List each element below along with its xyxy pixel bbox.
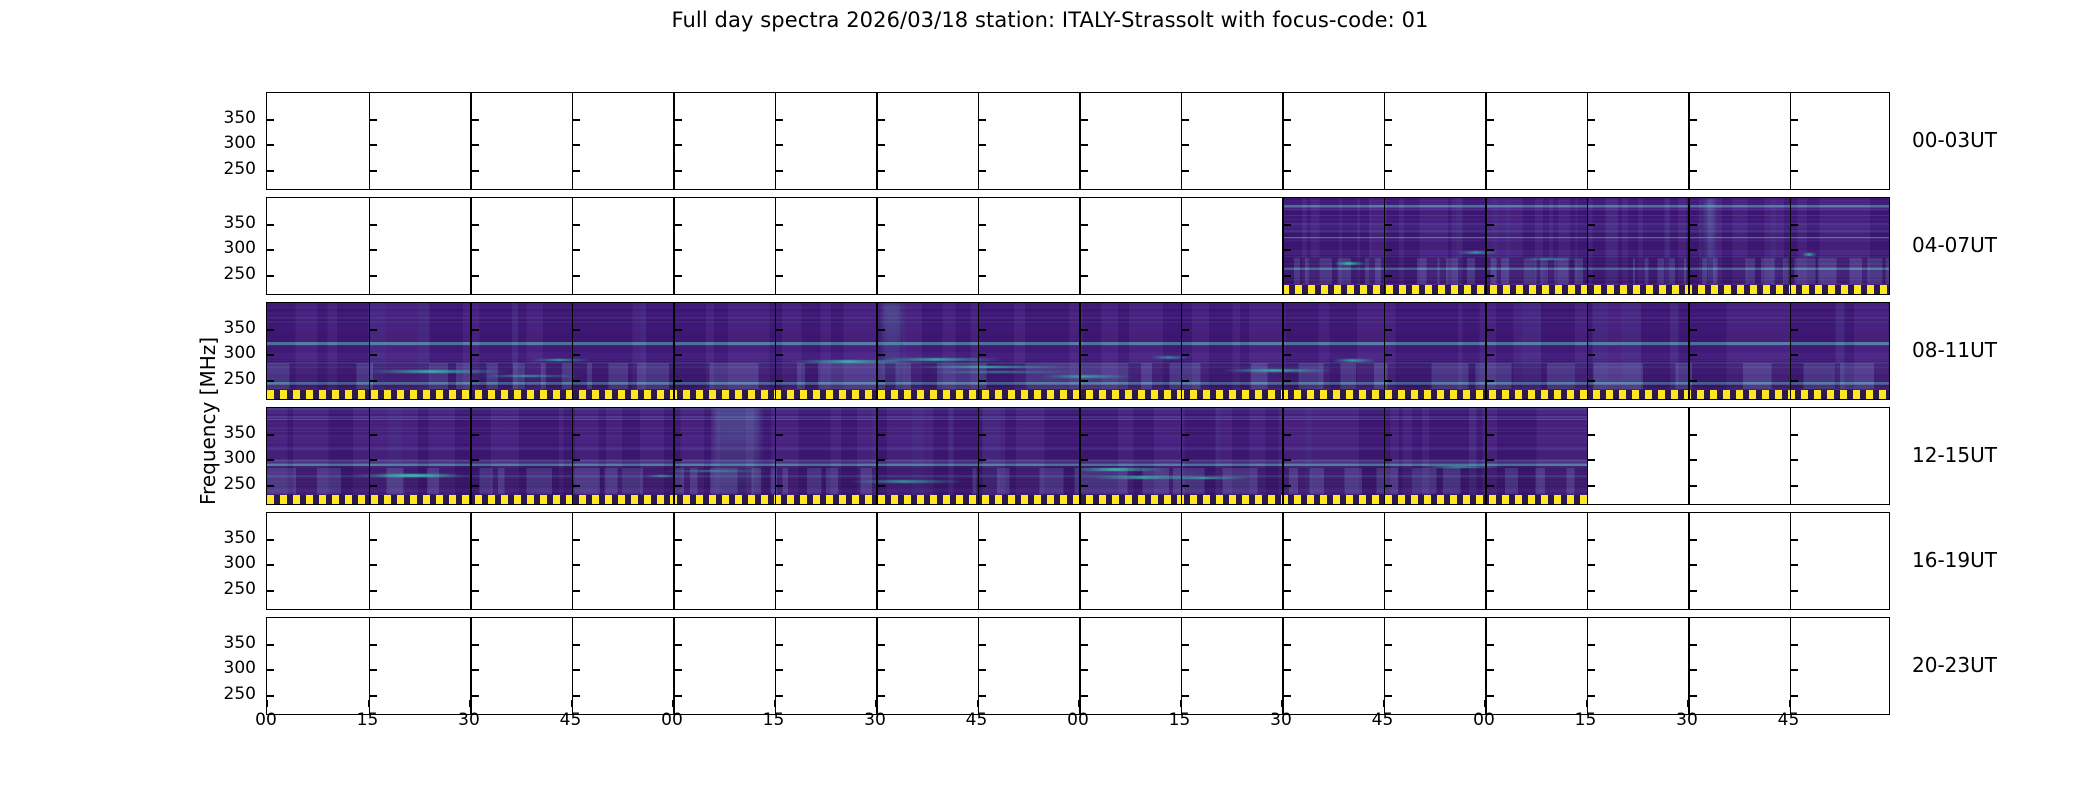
y-tick-mark <box>675 329 682 331</box>
y-tick-mark <box>878 119 885 121</box>
y-tick-mark <box>267 144 274 146</box>
y-tick-mark <box>573 695 580 697</box>
y-tick-mark <box>878 249 885 251</box>
y-tick-mark <box>472 539 479 541</box>
y-tick-mark <box>878 669 885 671</box>
y-tick-mark <box>675 590 682 592</box>
y-tick-mark <box>675 434 682 436</box>
y-tick-mark <box>1791 224 1798 226</box>
x-tick-label: 15 <box>754 710 794 730</box>
segment-divider <box>1688 93 1690 189</box>
y-tick-mark <box>1487 590 1494 592</box>
y-tick-mark <box>1690 224 1697 226</box>
y-tick-mark <box>675 380 682 382</box>
data-region <box>267 408 1587 504</box>
y-tick-mark <box>1284 329 1291 331</box>
x-tick-label: 15 <box>1566 710 1606 730</box>
y-tick-mark <box>979 564 986 566</box>
segment-divider <box>1485 198 1487 294</box>
y-tick-mark <box>1487 539 1494 541</box>
x-tick-mark <box>1687 700 1689 707</box>
y-tick-mark <box>370 590 377 592</box>
horizontal-band <box>267 462 1587 463</box>
segment-divider <box>1282 303 1284 399</box>
y-tick-mark <box>1182 669 1189 671</box>
x-tick-label: 00 <box>652 710 692 730</box>
y-tick-mark <box>573 354 580 356</box>
y-tick-mark <box>1487 354 1494 356</box>
spectrogram-panel[interactable] <box>266 302 1890 400</box>
y-tick-mark <box>1588 669 1595 671</box>
row-time-label: 00-03UT <box>1912 128 1997 152</box>
segment-divider <box>1485 93 1487 189</box>
y-tick-mark <box>1487 249 1494 251</box>
y-tick-mark <box>1385 539 1392 541</box>
y-tick-mark <box>1588 329 1595 331</box>
segment-divider <box>1384 513 1386 609</box>
y-tick-mark <box>675 644 682 646</box>
y-tick-mark <box>878 144 885 146</box>
y-tick-mark <box>1081 539 1088 541</box>
x-tick-mark <box>977 700 979 707</box>
x-tick-label: 45 <box>957 710 997 730</box>
segment-divider <box>673 93 675 189</box>
y-tick-mark <box>1690 485 1697 487</box>
segment-divider <box>1587 198 1589 294</box>
y-tick-mark <box>1588 434 1595 436</box>
segment-divider <box>1282 513 1284 609</box>
segment-divider <box>1079 513 1081 609</box>
spectrogram-figure: Full day spectra 2026/03/18 station: ITA… <box>0 0 2100 800</box>
y-tick-mark <box>1791 564 1798 566</box>
y-tick-mark <box>1284 249 1291 251</box>
y-tick-mark <box>370 170 377 172</box>
y-tick-mark <box>1791 590 1798 592</box>
y-tick-mark <box>979 485 986 487</box>
segment-divider <box>1587 303 1589 399</box>
x-tick-label: 30 <box>1667 710 1707 730</box>
y-tick-mark <box>573 329 580 331</box>
y-tick-mark <box>1081 329 1088 331</box>
y-tick-mark <box>1690 434 1697 436</box>
y-tick-mark <box>1081 564 1088 566</box>
y-tick-mark <box>675 249 682 251</box>
y-tick-mark <box>1588 459 1595 461</box>
segment-divider <box>572 303 574 399</box>
segment-divider <box>1790 513 1792 609</box>
x-tick-mark <box>1586 700 1588 707</box>
vertical-plume <box>715 408 760 494</box>
y-tick-mark <box>267 539 274 541</box>
segment-divider <box>1079 408 1081 504</box>
y-tick-label: 350 <box>202 108 256 128</box>
y-tick-mark <box>1690 170 1697 172</box>
segment-divider <box>470 198 472 294</box>
y-tick-mark <box>1081 644 1088 646</box>
y-tick-mark <box>878 539 885 541</box>
y-tick-mark <box>979 275 986 277</box>
y-tick-mark <box>1791 354 1798 356</box>
y-tick-mark <box>370 275 377 277</box>
y-tick-mark <box>370 695 377 697</box>
y-tick-mark <box>1690 354 1697 356</box>
y-tick-mark <box>979 144 986 146</box>
y-tick-mark <box>370 485 377 487</box>
y-tick-mark <box>776 249 783 251</box>
y-tick-mark <box>1588 354 1595 356</box>
spectrogram-panel[interactable] <box>266 197 1890 295</box>
y-tick-mark <box>1487 380 1494 382</box>
segment-divider <box>775 513 777 609</box>
y-tick-mark <box>472 434 479 436</box>
y-tick-mark <box>370 119 377 121</box>
segment-divider <box>673 303 675 399</box>
y-tick-mark <box>1081 224 1088 226</box>
y-tick-mark <box>1487 329 1494 331</box>
y-tick-mark <box>1791 434 1798 436</box>
y-tick-mark <box>1081 144 1088 146</box>
x-tick-label: 45 <box>1769 710 1809 730</box>
y-tick-mark <box>1284 459 1291 461</box>
emission-streak <box>1334 262 1366 265</box>
segment-divider <box>1384 303 1386 399</box>
y-tick-mark <box>1284 170 1291 172</box>
y-tick-mark <box>1385 564 1392 566</box>
y-tick-mark <box>1588 275 1595 277</box>
row-time-label: 16-19UT <box>1912 548 1997 572</box>
y-tick-mark <box>1385 485 1392 487</box>
y-tick-label: 300 <box>202 133 256 153</box>
y-tick-label: 250 <box>202 369 256 389</box>
spectrogram-panel[interactable] <box>266 407 1890 505</box>
y-tick-mark <box>1081 590 1088 592</box>
segment-divider <box>1282 93 1284 189</box>
segment-divider <box>1384 93 1386 189</box>
y-tick-mark <box>1588 644 1595 646</box>
y-tick-mark <box>472 329 479 331</box>
emission-streak <box>1150 356 1191 359</box>
y-tick-mark <box>573 644 580 646</box>
segment-divider <box>1181 93 1183 189</box>
x-tick-mark <box>266 700 268 707</box>
segment-divider <box>876 408 878 504</box>
y-tick-mark <box>472 354 479 356</box>
segment-divider <box>673 408 675 504</box>
y-tick-mark <box>472 144 479 146</box>
y-tick-mark <box>1385 434 1392 436</box>
y-tick-mark <box>1690 144 1697 146</box>
y-tick-mark <box>979 249 986 251</box>
y-tick-mark <box>878 170 885 172</box>
y-tick-mark <box>1182 249 1189 251</box>
y-tick-mark <box>675 144 682 146</box>
y-tick-mark <box>573 669 580 671</box>
y-tick-label: 350 <box>202 528 256 548</box>
y-tick-mark <box>267 249 274 251</box>
segment-divider <box>1181 303 1183 399</box>
y-tick-mark <box>675 275 682 277</box>
y-tick-mark <box>1791 170 1798 172</box>
y-tick-mark <box>1588 590 1595 592</box>
y-tick-mark <box>573 485 580 487</box>
y-tick-label: 350 <box>202 423 256 443</box>
y-tick-label: 250 <box>202 684 256 704</box>
y-tick-mark <box>1081 434 1088 436</box>
y-tick-mark <box>979 380 986 382</box>
segment-divider <box>876 93 878 189</box>
x-tick-label: 00 <box>1058 710 1098 730</box>
segment-divider <box>369 408 371 504</box>
y-tick-label: 300 <box>202 238 256 258</box>
y-tick-mark <box>370 539 377 541</box>
y-tick-mark <box>1081 669 1088 671</box>
emission-streak <box>1166 477 1250 480</box>
panel-frame <box>266 407 1890 505</box>
y-tick-mark <box>1791 380 1798 382</box>
y-tick-mark <box>1385 224 1392 226</box>
segment-divider <box>1587 408 1589 504</box>
y-tick-label: 300 <box>202 658 256 678</box>
y-tick-mark <box>776 590 783 592</box>
y-tick-mark <box>573 275 580 277</box>
segment-divider <box>1181 513 1183 609</box>
y-tick-mark <box>1182 275 1189 277</box>
y-tick-mark <box>1588 249 1595 251</box>
y-tick-mark <box>1385 329 1392 331</box>
y-tick-mark <box>267 434 274 436</box>
y-tick-mark <box>1385 380 1392 382</box>
segment-divider <box>369 303 371 399</box>
y-tick-mark <box>472 695 479 697</box>
vertical-plume <box>882 303 902 389</box>
y-tick-mark <box>370 224 377 226</box>
y-tick-mark <box>1284 695 1291 697</box>
y-tick-label: 300 <box>202 343 256 363</box>
y-tick-mark <box>1385 275 1392 277</box>
y-tick-mark <box>1081 354 1088 356</box>
y-tick-mark <box>776 434 783 436</box>
y-tick-mark <box>675 119 682 121</box>
y-tick-mark <box>267 644 274 646</box>
y-tick-mark <box>776 695 783 697</box>
panel-frame <box>266 512 1890 610</box>
y-tick-mark <box>776 275 783 277</box>
y-tick-mark <box>675 459 682 461</box>
x-tick-label: 15 <box>1160 710 1200 730</box>
segment-divider <box>673 198 675 294</box>
y-tick-mark <box>878 224 885 226</box>
y-tick-mark <box>979 354 986 356</box>
segment-divider <box>1790 408 1792 504</box>
y-tick-mark <box>1284 380 1291 382</box>
segment-divider <box>470 513 472 609</box>
y-tick-mark <box>1487 644 1494 646</box>
y-tick-mark <box>979 539 986 541</box>
y-tick-mark <box>1791 249 1798 251</box>
y-tick-mark <box>1385 144 1392 146</box>
y-tick-label: 250 <box>202 159 256 179</box>
y-tick-mark <box>573 170 580 172</box>
y-tick-mark <box>776 669 783 671</box>
y-tick-mark <box>1081 695 1088 697</box>
y-tick-mark <box>1690 669 1697 671</box>
y-tick-mark <box>370 644 377 646</box>
y-tick-mark <box>573 564 580 566</box>
emission-streak <box>927 371 1081 374</box>
y-tick-mark <box>1081 485 1088 487</box>
y-tick-mark <box>1588 485 1595 487</box>
x-tick-label: 45 <box>1363 710 1403 730</box>
panel-frame <box>266 197 1890 295</box>
segment-divider <box>1790 303 1792 399</box>
y-tick-mark <box>1385 590 1392 592</box>
x-tick-label: 45 <box>551 710 591 730</box>
y-tick-mark <box>675 224 682 226</box>
y-tick-mark <box>1791 695 1798 697</box>
y-tick-mark <box>776 354 783 356</box>
y-tick-mark <box>1385 695 1392 697</box>
x-tick-mark <box>368 700 370 707</box>
y-tick-mark <box>370 669 377 671</box>
y-tick-mark <box>1182 644 1189 646</box>
x-tick-mark <box>1383 700 1385 707</box>
x-axis: 00153045001530450015304500153045 <box>266 700 1890 760</box>
y-tick-mark <box>776 144 783 146</box>
y-tick-mark <box>1588 380 1595 382</box>
y-tick-mark <box>1588 539 1595 541</box>
horizontal-band <box>267 447 1587 448</box>
x-tick-mark <box>1789 700 1791 707</box>
spectrogram-panel[interactable] <box>266 92 1890 190</box>
y-tick-label: 250 <box>202 264 256 284</box>
y-tick-mark <box>472 224 479 226</box>
y-tick-mark <box>1690 380 1697 382</box>
y-tick-label: 350 <box>202 318 256 338</box>
y-tick-mark <box>1182 485 1189 487</box>
y-tick-mark <box>1690 590 1697 592</box>
y-tick-mark <box>370 329 377 331</box>
row-time-label: 04-07UT <box>1912 233 1997 257</box>
figure-title: Full day spectra 2026/03/18 station: ITA… <box>0 8 2100 32</box>
x-tick-mark <box>1281 700 1283 707</box>
status-strip <box>267 495 1587 504</box>
y-tick-mark <box>1690 119 1697 121</box>
y-tick-mark <box>1385 459 1392 461</box>
y-tick-mark <box>776 564 783 566</box>
y-tick-mark <box>1791 459 1798 461</box>
segment-divider <box>1384 198 1386 294</box>
y-tick-label: 300 <box>202 553 256 573</box>
emission-streak <box>368 370 507 373</box>
y-tick-mark <box>573 434 580 436</box>
emission-streak <box>1042 375 1135 378</box>
y-tick-mark <box>1791 119 1798 121</box>
y-tick-mark <box>1081 119 1088 121</box>
y-tick-mark <box>1182 354 1189 356</box>
y-tick-mark <box>979 329 986 331</box>
y-tick-mark <box>1588 170 1595 172</box>
y-tick-mark <box>573 249 580 251</box>
y-tick-mark <box>1385 669 1392 671</box>
y-tick-mark <box>1081 275 1088 277</box>
y-tick-mark <box>675 564 682 566</box>
segment-divider <box>978 198 980 294</box>
y-tick-mark <box>1385 354 1392 356</box>
y-tick-mark <box>675 485 682 487</box>
segment-divider <box>775 93 777 189</box>
y-tick-mark <box>1487 485 1494 487</box>
x-tick-label: 00 <box>246 710 286 730</box>
y-tick-mark <box>1487 695 1494 697</box>
emission-streak <box>1072 468 1167 471</box>
y-tick-mark <box>267 669 274 671</box>
emission-streak <box>1421 466 1503 469</box>
y-tick-mark <box>776 329 783 331</box>
y-tick-mark <box>370 564 377 566</box>
y-tick-mark <box>776 485 783 487</box>
y-tick-mark <box>370 249 377 251</box>
y-tick-mark <box>267 119 274 121</box>
y-tick-mark <box>472 249 479 251</box>
segment-divider <box>470 303 472 399</box>
y-tick-mark <box>573 590 580 592</box>
y-tick-mark <box>1182 380 1189 382</box>
y-tick-mark <box>675 354 682 356</box>
y-tick-mark <box>878 354 885 356</box>
y-tick-mark <box>472 170 479 172</box>
segment-divider <box>1587 93 1589 189</box>
y-tick-mark <box>1487 224 1494 226</box>
y-tick-mark <box>1487 144 1494 146</box>
y-tick-mark <box>472 644 479 646</box>
y-tick-mark <box>1182 695 1189 697</box>
y-tick-mark <box>776 380 783 382</box>
segment-divider <box>1181 408 1183 504</box>
y-tick-mark <box>1791 485 1798 487</box>
y-tick-mark <box>472 669 479 671</box>
spectrogram-panel[interactable] <box>266 512 1890 610</box>
y-tick-label: 250 <box>202 474 256 494</box>
y-tick-mark <box>1182 564 1189 566</box>
y-tick-mark <box>267 275 274 277</box>
emission-streak <box>1457 251 1498 254</box>
y-tick-mark <box>1182 459 1189 461</box>
segment-divider <box>572 198 574 294</box>
y-tick-mark <box>878 275 885 277</box>
y-tick-label: 350 <box>202 633 256 653</box>
segment-divider <box>978 303 980 399</box>
segment-divider <box>572 408 574 504</box>
horizontal-band <box>267 431 1587 432</box>
y-tick-mark <box>1284 119 1291 121</box>
emission-streak <box>852 480 964 483</box>
y-tick-mark <box>1487 119 1494 121</box>
y-tick-mark <box>267 564 274 566</box>
segment-divider <box>369 513 371 609</box>
y-tick-mark <box>1284 644 1291 646</box>
y-tick-mark <box>979 590 986 592</box>
segment-divider <box>572 513 574 609</box>
y-tick-mark <box>1588 695 1595 697</box>
segment-divider <box>1688 408 1690 504</box>
y-tick-mark <box>472 564 479 566</box>
y-tick-mark <box>878 485 885 487</box>
segment-divider <box>1181 198 1183 294</box>
y-tick-mark <box>1284 144 1291 146</box>
y-tick-mark <box>776 224 783 226</box>
x-tick-mark <box>1484 700 1486 707</box>
y-tick-mark <box>472 485 479 487</box>
